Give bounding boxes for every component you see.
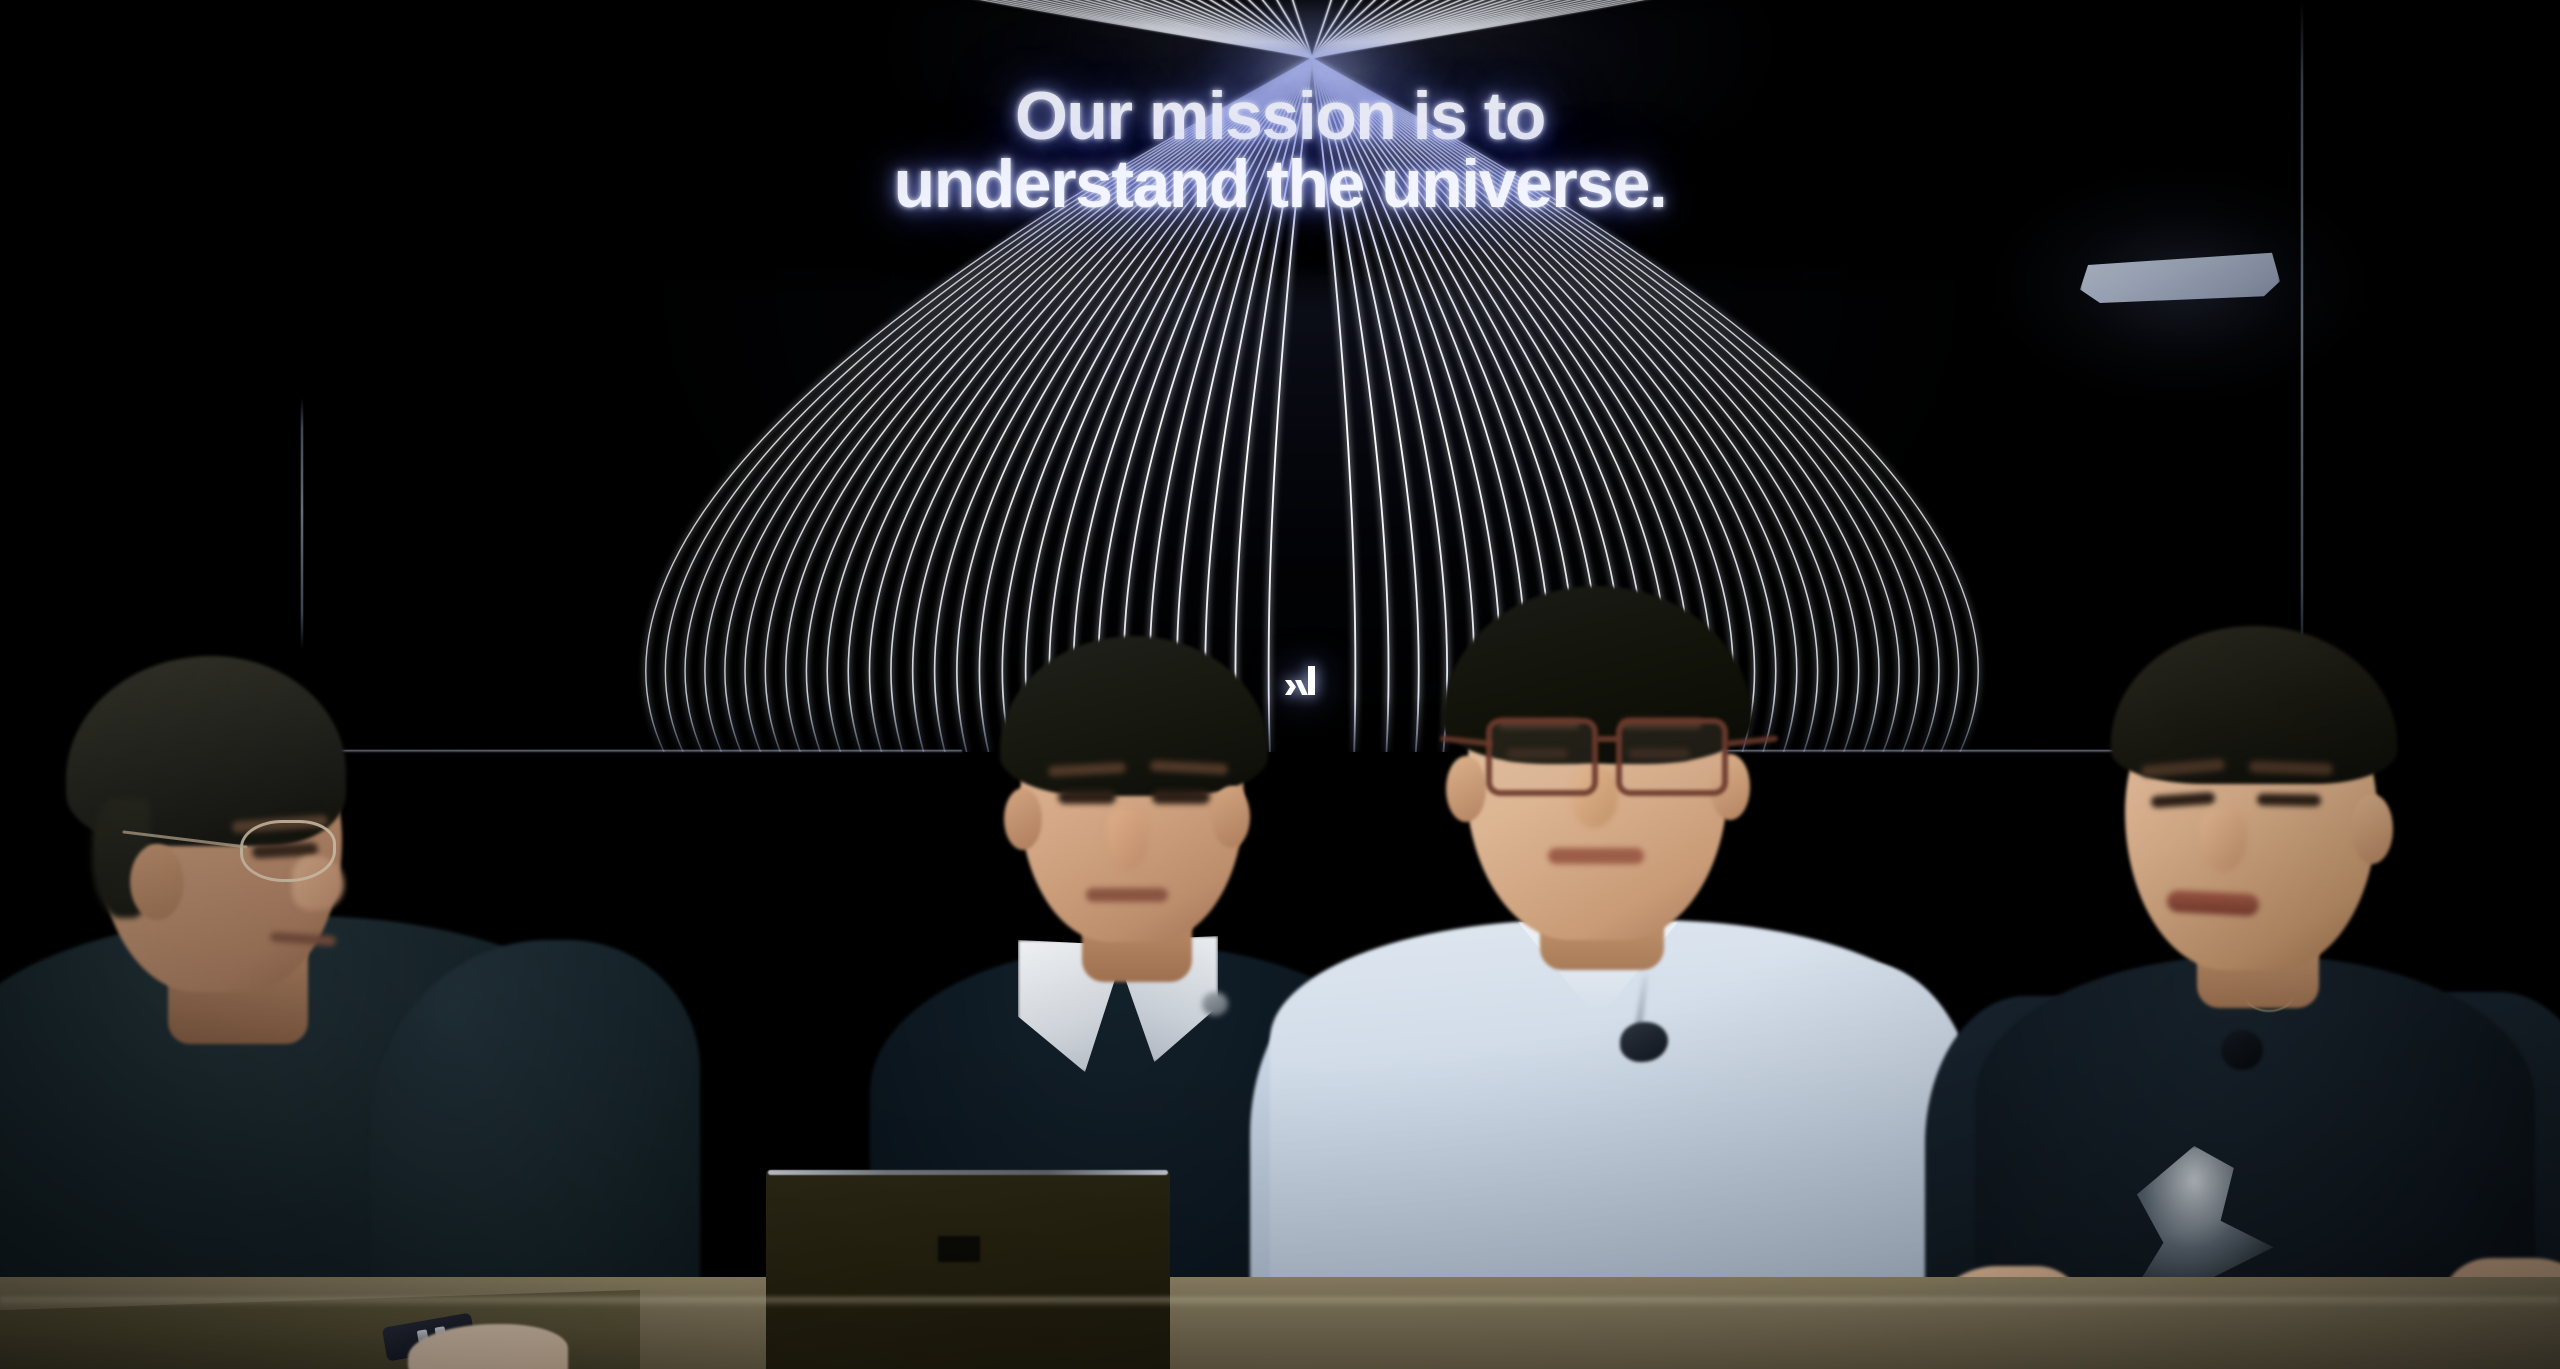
laptop-lid [766, 1170, 1170, 1369]
glasses-lens-left [1486, 718, 1598, 796]
panelist-2-mouth [1086, 888, 1168, 902]
screenshot-frame: Our mission is to understand the univers… [0, 0, 2560, 1369]
glasses-lens [240, 820, 336, 882]
table-edge-highlight [0, 1297, 2560, 1307]
panelist-1-ear [130, 844, 184, 920]
panelist-far-left [0, 648, 700, 1369]
glasses-lens-right [1616, 718, 1728, 796]
panelist-4-neck-chain [2245, 978, 2293, 1012]
panelist-2-eye-left [1058, 790, 1116, 804]
panelist-4-eye-right [2257, 793, 2321, 806]
panelist-4-ear [2351, 794, 2393, 864]
panelist-3-mouth [1548, 848, 1644, 864]
mission-headline: Our mission is to understand the univers… [0, 82, 2560, 218]
panelist-center-right [1290, 570, 1910, 1369]
panelist-far-right [1945, 626, 2560, 1369]
panelist-2-lapel-mic [1202, 992, 1228, 1016]
panelist-4-nose [2199, 808, 2247, 872]
panelist-2-nose [1106, 808, 1148, 870]
laptop-top-edge [768, 1170, 1168, 1175]
laptop [766, 1170, 1170, 1369]
laptop-logo-badge [938, 1236, 980, 1262]
panelist-3-ear-left [1446, 756, 1486, 822]
panelist-4-mouth [2166, 890, 2259, 917]
panelist-2-hair [1000, 636, 1268, 796]
panelist-2-eye-right [1152, 790, 1210, 804]
screen-left-edge [301, 398, 303, 650]
glasses-bridge [1596, 736, 1620, 742]
panelist-2-ear-right [1212, 786, 1250, 848]
panelist-4-lapel-mic [2221, 1030, 2263, 1070]
ceiling-light-panel [2080, 250, 2280, 318]
panelist-1-hand [398, 1306, 598, 1369]
panelist-2-ear-left [1004, 788, 1042, 850]
